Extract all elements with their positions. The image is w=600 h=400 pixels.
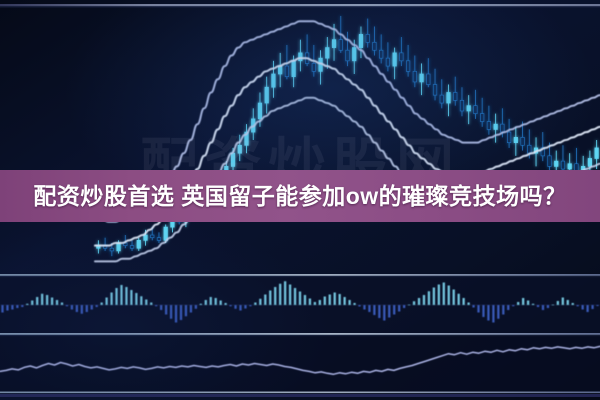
divider-macd-momentum xyxy=(0,333,600,336)
divider-bottom xyxy=(0,392,600,398)
headline-text: 配资炒股首选 英国留子能参加ow的璀璨竞技场吗？ xyxy=(33,185,566,208)
divider-price-macd xyxy=(0,274,600,277)
momentum-panel-background xyxy=(0,336,600,393)
stock-chart-image: 配资炒股网 配资炒股首选 英国留子能参加ow的璀璨竞技场吗？ xyxy=(0,0,600,400)
divider-top xyxy=(0,4,600,7)
headline-banner: 配资炒股首选 英国留子能参加ow的璀璨竞技场吗？ xyxy=(0,170,600,222)
